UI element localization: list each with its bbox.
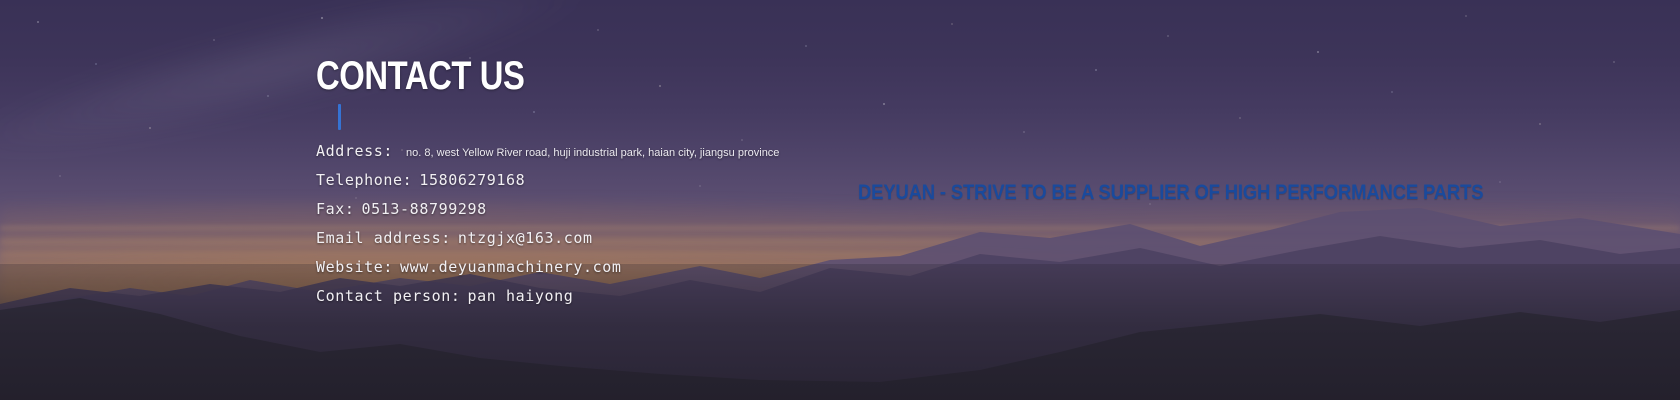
contact-value-person: pan haiyong bbox=[467, 287, 573, 305]
banner-content: CONTACT US Address: no. 8, west Yellow R… bbox=[0, 0, 1680, 400]
contact-value-telephone[interactable]: 15806279168 bbox=[419, 171, 525, 189]
contact-footer-banner: CONTACT US Address: no. 8, west Yellow R… bbox=[0, 0, 1680, 400]
contact-row-website: Website: www.deyuanmachinery.com bbox=[316, 258, 779, 287]
contact-value-address: no. 8, west Yellow River road, huji indu… bbox=[406, 147, 779, 159]
contact-row-telephone: Telephone: 15806279168 bbox=[316, 171, 779, 200]
contact-value-fax: 0513-88799298 bbox=[362, 200, 487, 218]
title-accent-bar bbox=[338, 104, 341, 130]
contact-label-email: Email address: bbox=[316, 229, 451, 247]
page-title: CONTACT US bbox=[316, 56, 524, 96]
contact-label-person: Contact person: bbox=[316, 287, 460, 305]
contact-value-email[interactable]: ntzgjx@163.com bbox=[458, 229, 593, 247]
contact-row-address: Address: no. 8, west Yellow River road, … bbox=[316, 142, 779, 171]
heading-block: CONTACT US bbox=[316, 56, 570, 96]
contact-row-fax: Fax: 0513-88799298 bbox=[316, 200, 779, 229]
contact-row-person: Contact person: pan haiyong bbox=[316, 287, 779, 316]
contact-label-telephone: Telephone: bbox=[316, 171, 412, 189]
contact-row-email: Email address: ntzgjx@163.com bbox=[316, 229, 779, 258]
contact-details-list: Address: no. 8, west Yellow River road, … bbox=[316, 142, 779, 316]
contact-label-address: Address: bbox=[316, 142, 393, 160]
contact-label-fax: Fax: bbox=[316, 200, 355, 218]
contact-label-website: Website: bbox=[316, 258, 393, 276]
company-tagline: DEYUAN - STRIVE TO BE A SUPPLIER OF HIGH… bbox=[858, 182, 1483, 203]
contact-value-website[interactable]: www.deyuanmachinery.com bbox=[400, 258, 622, 276]
